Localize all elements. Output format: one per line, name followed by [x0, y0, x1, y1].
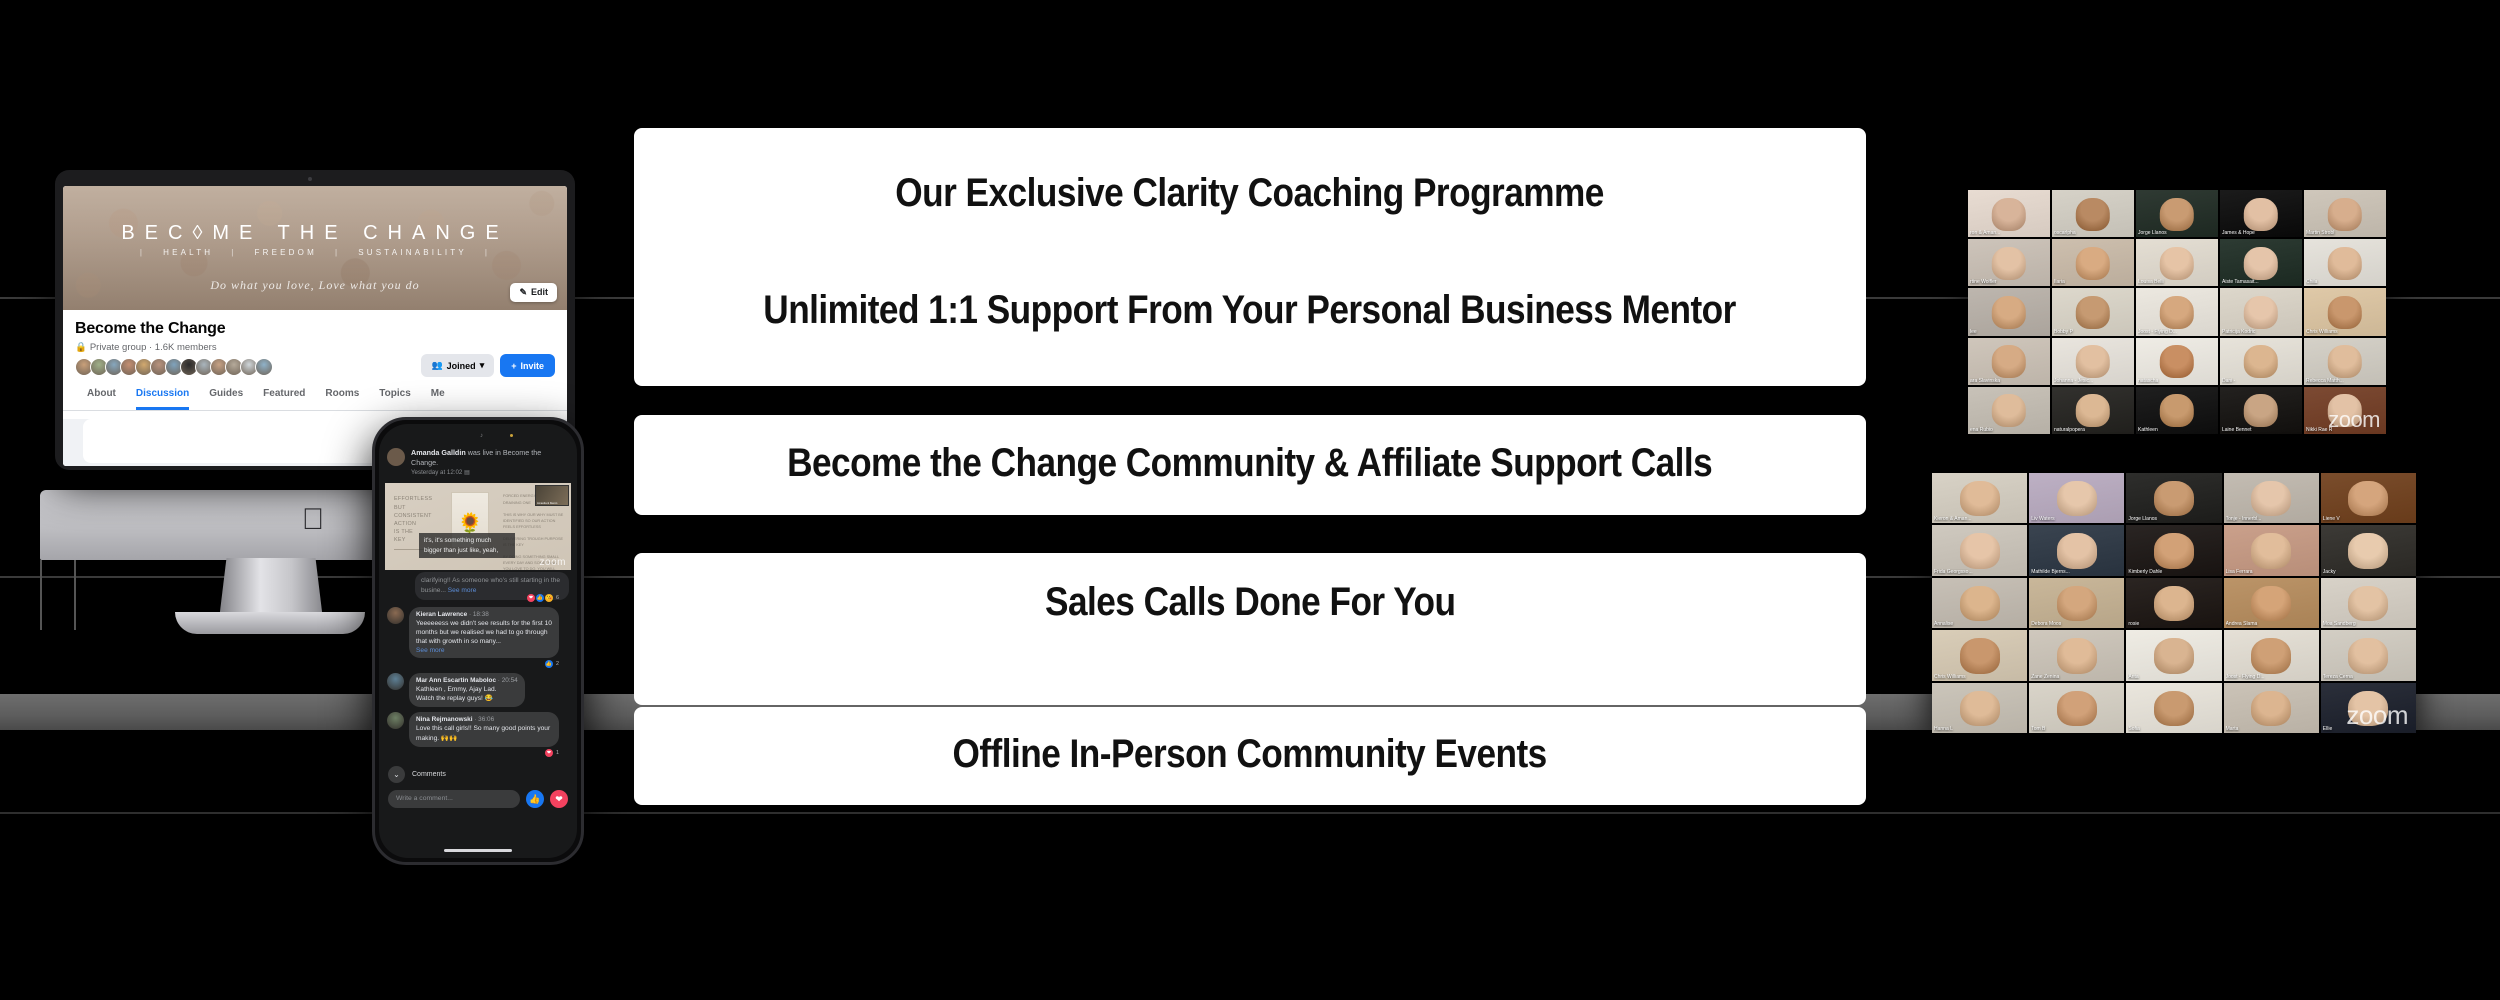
participant-avatar — [2160, 247, 2194, 280]
participant-avatar — [1960, 481, 2000, 516]
participant-avatar — [2076, 345, 2110, 378]
participant-name: Joost - Flying D... — [2138, 329, 2216, 335]
participant-name: natascha — [2138, 378, 2216, 384]
participant-name: Ellie — [2323, 726, 2414, 732]
participant-avatar — [2251, 533, 2291, 568]
zoom-participant-tile[interactable]: Rebecca Matth... — [2304, 338, 2386, 385]
poster-canvas:  BEC◊ME THE CHANGE |HEALTH|FREEDOM|SUST… — [0, 0, 2500, 1000]
participant-name: Johanna - Jesic... — [2054, 378, 2132, 384]
feature-panel-5[interactable]: Offline In-Person Community Events — [634, 707, 1866, 805]
post-author-avatar[interactable] — [387, 448, 405, 466]
participant-avatar — [2244, 198, 2278, 231]
love-reaction-icon: ❤ — [545, 749, 553, 757]
live-caption: it's, it's something much bigger than ju… — [419, 533, 515, 558]
comment-bubble: Nina Rejmanowski · 36:06Love this call g… — [409, 712, 559, 747]
participant-avatar — [2348, 533, 2388, 568]
participant-name: Liv Waters — [2031, 516, 2122, 522]
post-action: was live in — [466, 448, 503, 457]
participant-avatar — [2057, 533, 2097, 568]
cable-left — [40, 560, 42, 630]
cover-quote: Do what you love, Love what you do — [63, 278, 567, 293]
zoom-participant-tile[interactable]: Jacky — [2321, 525, 2416, 575]
zoom-participant-tile[interactable]: oscarlpha — [2052, 190, 2134, 237]
comment-author-avatar[interactable] — [387, 607, 404, 624]
apple-logo-icon:  — [300, 505, 326, 535]
group-tab-featured[interactable]: Featured — [263, 388, 305, 410]
comment-author-name[interactable]: Mar Ann Escartin Maboloc · 20:54 — [416, 677, 518, 684]
participant-avatar — [2348, 481, 2388, 516]
comment-list: Kieran Lawrence · 18:38Yeeeeeess we didn… — [379, 602, 577, 758]
post-privacy-icon: ▤ — [464, 469, 470, 476]
pencil-icon: ✎ — [519, 287, 527, 297]
participant-avatar — [2348, 586, 2388, 621]
edit-cover-label: Edit — [531, 287, 548, 297]
feature-panel-3-label: Become the Change Community & Affiliate … — [787, 443, 1712, 483]
zoom-participant-tile[interactable]: Jorge Llanos — [2136, 190, 2218, 237]
participant-avatar — [2244, 296, 2278, 329]
zoom-participant-tile[interactable]: ena Rubio — [1968, 387, 2050, 434]
participant-avatar — [2076, 296, 2110, 329]
comment-author-avatar[interactable] — [387, 712, 404, 729]
participant-avatar — [2251, 586, 2291, 621]
participant-name: James & Hope — [2222, 230, 2300, 236]
participant-name: Tonje - Innerbl... — [2226, 516, 2317, 522]
faded-comment: clarifying!! As someone who's still star… — [379, 570, 577, 601]
comment-author-name[interactable]: Kieran Lawrence · 18:38 — [416, 611, 552, 618]
participant-name: Lisa Ferrara — [2226, 569, 2317, 575]
post-header: Amanda Galldin was live in Become the Ch… — [379, 424, 577, 480]
participant-name: Moa Sandberg — [2323, 621, 2414, 627]
care-reaction-icon: 😘 — [545, 594, 553, 602]
comment-bubble: Kieran Lawrence · 18:38Yeeeeeess we didn… — [409, 607, 559, 658]
group-info: Become the Change 🔒Private group · 1.6K … — [63, 310, 567, 376]
comment-reaction-count: 1 — [556, 750, 559, 756]
participant-avatar — [2244, 247, 2278, 280]
iphone-device: ♪ Amanda Galldin was live in Become the … — [372, 417, 584, 865]
participant-avatar — [2244, 345, 2278, 378]
zoom-participant-tile[interactable]: Tereza Černa — [2321, 630, 2416, 680]
imac-base — [175, 612, 365, 634]
participant-avatar — [1960, 533, 2000, 568]
participant-name: ron & Aman... — [1970, 230, 2048, 236]
comment-timestamp: · 20:54 — [498, 677, 518, 684]
participant-name: Tereza Černa — [2323, 674, 2414, 680]
like-button[interactable]: 👍 — [526, 790, 544, 808]
love-button[interactable]: ❤ — [550, 790, 568, 808]
comment-body: Yeeeeeess we didn't see results for the … — [416, 619, 552, 647]
comment-composer: Write a comment... 👍 ❤ — [379, 783, 577, 808]
participant-name: Rebecca Matth... — [2306, 378, 2384, 384]
iphone-screen: ♪ Amanda Galldin was live in Become the … — [379, 424, 577, 858]
participant-avatar — [1960, 586, 2000, 621]
participant-name: Jacky — [2323, 569, 2414, 575]
participant-name: Chris Williams — [1934, 674, 2025, 680]
participant-name: Annalise — [1934, 621, 2025, 627]
participant-name: Sofia — [2128, 726, 2219, 732]
zoom-participant-tile[interactable]: Aiste Tamasait... — [2220, 239, 2302, 286]
zoom-participant-tile[interactable]: Zane Zenina — [2029, 630, 2124, 680]
participant-name: Kimberly Dahle — [2128, 569, 2219, 575]
feature-panel-4-label: Sales Calls Done For You — [1045, 582, 1456, 622]
faded-comment-see-more[interactable]: See more — [448, 587, 477, 594]
participant-avatar — [2328, 394, 2362, 427]
love-reaction-icon: ❤ — [527, 594, 535, 602]
like-reaction-icon: 👍 — [536, 594, 544, 602]
participant-name: Tom B — [2031, 726, 2122, 732]
participant-avatar — [2057, 691, 2097, 726]
group-privacy-meta: 🔒Private group · 1.6K members — [75, 342, 555, 353]
speaker-thumbnail-label: Amanda & Kieron — [537, 502, 557, 505]
group-tab-rooms[interactable]: Rooms — [325, 388, 359, 410]
zoom-participant-tile[interactable]: Martin Strobl — [2304, 190, 2386, 237]
participant-avatar — [1992, 345, 2026, 378]
participant-avatar — [2160, 198, 2194, 231]
zoom-participant-tile[interactable]: Liv Waters — [2029, 473, 2124, 523]
zoom-participant-tile[interactable]: lee — [1968, 288, 2050, 335]
participant-avatar — [2348, 638, 2388, 673]
zoom-participant-tile[interactable]: Patricija Kodric — [2220, 288, 2302, 335]
participant-avatar — [1992, 247, 2026, 280]
comment-reaction-badge[interactable]: ❤1 — [409, 749, 559, 757]
participant-name: Jorge Llanos — [2128, 516, 2219, 522]
zoom-participant-tile[interactable]: Chris Williams — [2304, 288, 2386, 335]
participant-avatar — [2154, 533, 2194, 568]
group-tabs[interactable]: AboutDiscussionGuidesFeaturedRoomsTopics… — [63, 376, 567, 411]
comment-timestamp: · 36:06 — [474, 716, 494, 723]
participant-name: Liene V — [2323, 516, 2414, 522]
participant-avatar — [2160, 394, 2194, 427]
lock-icon: 🔒 — [75, 342, 87, 353]
participant-avatar — [2154, 481, 2194, 516]
zoom-participant-tile[interactable]: Andrea Slama — [2224, 578, 2319, 628]
comment-item: Nina Rejmanowski · 36:06Love this call g… — [379, 707, 577, 757]
participant-avatar — [2251, 638, 2291, 673]
participant-avatar — [2076, 394, 2110, 427]
participant-avatar — [1992, 394, 2026, 427]
comment-reaction-badge[interactable]: 👍2 — [409, 660, 559, 668]
zoom-participant-tile[interactable]: ara Slavinska — [1968, 338, 2050, 385]
participant-avatar — [2154, 586, 2194, 621]
participant-name: ena Rubio — [1970, 427, 2048, 433]
cover-pillars: |HEALTH|FREEDOM|SUSTAINABILITY| — [63, 248, 567, 257]
participant-name: Ilaria — [2054, 279, 2132, 285]
participant-name: Zane Zenina — [2031, 674, 2122, 680]
participant-name: Laine Bennet — [2222, 427, 2300, 433]
participant-avatar — [2328, 345, 2362, 378]
participant-avatar — [2328, 247, 2362, 280]
zoom-call-grid-1[interactable]: ron & Aman...oscarlphaJorge LlanosJames … — [1968, 190, 2386, 434]
post-timestamp: Yesterday at 12:02 ▤ — [411, 469, 569, 476]
members-icon: 👥 — [431, 360, 442, 371]
zoom-participant-tile[interactable]: Laine Bennet — [2220, 387, 2302, 434]
comment-author-avatar[interactable] — [387, 673, 404, 690]
participant-name: Andrea Slama — [2226, 621, 2317, 627]
zoom-participant-tile[interactable]: Liene V — [2321, 473, 2416, 523]
edit-cover-button[interactable]: ✎Edit — [510, 283, 557, 302]
participant-avatar — [2244, 394, 2278, 427]
comment-timestamp: · 18:38 — [469, 611, 489, 618]
comment-reaction-count: 2 — [556, 661, 559, 667]
feature-panel-5-label: Offline In-Person Community Events — [953, 734, 1547, 774]
participant-name: Nikki Rae R — [2306, 427, 2384, 433]
group-action-buttons: 👥 Joined ▾ + Invite — [421, 354, 555, 377]
live-video-player[interactable]: EFFORTLESSBUTCONSISTENTACTIONIS THEKEY 🌻… — [385, 483, 571, 570]
post-timestamp-text: Yesterday at 12:02 — [411, 469, 462, 476]
invite-label: Invite — [520, 361, 544, 371]
zoom-participant-tile[interactable]: James & Hope — [2220, 190, 2302, 237]
zoom-participant-tile[interactable]: Tonje - Innerbl... — [2224, 473, 2319, 523]
participant-name: Chris Williams — [2306, 329, 2384, 335]
participant-name: ara Slavinska — [1970, 378, 2048, 384]
participant-name: Aiste Tamasait... — [2222, 279, 2300, 285]
group-tab-discussion[interactable]: Discussion — [136, 388, 189, 410]
group-tab-guides[interactable]: Guides — [209, 388, 243, 410]
zoom-participant-tile[interactable]: natascha — [2136, 338, 2218, 385]
group-privacy-label: Private group · 1.6K members — [90, 342, 217, 353]
participant-avatar — [1992, 296, 2026, 329]
participant-name: Joost - Flying D... — [2226, 674, 2317, 680]
zoom-participant-tile[interactable]: Jorge Llanos — [2126, 473, 2221, 523]
comment-author-name[interactable]: Nina Rejmanowski · 36:06 — [416, 716, 552, 723]
zoom-participant-tile[interactable]: Ellie — [2321, 683, 2416, 733]
group-tab-about[interactable]: About — [87, 388, 116, 410]
feature-panel-2[interactable]: Unlimited 1:1 Support From Your Personal… — [634, 290, 1866, 386]
zoom-participant-tile[interactable]: Dani - — [2220, 338, 2302, 385]
like-reaction-icon: 👍 — [545, 660, 553, 668]
zoom-participant-tile[interactable]: Kathleen — [2136, 387, 2218, 434]
participant-avatar — [2076, 198, 2110, 231]
zoom-participant-tile[interactable]: Frida Georgsso... — [1932, 525, 2027, 575]
participant-name: Chila — [2306, 279, 2384, 285]
zoom-participant-tile[interactable]: Joost - Flying D... — [2136, 288, 2218, 335]
participant-avatar — [2076, 247, 2110, 280]
zoom-participant-tile[interactable]: Tom B — [2029, 683, 2124, 733]
participant-name: Jorge Llanos — [2138, 230, 2216, 236]
comment-see-more[interactable]: See more — [416, 647, 552, 654]
zoom-participant-tile[interactable]: Louisa Belli — [2136, 239, 2218, 286]
participant-name: Hanna L — [1934, 726, 2025, 732]
comments-label: Comments — [412, 771, 446, 778]
participant-name: Louisa Belli — [2138, 279, 2216, 285]
participant-name: Debora Moos — [2031, 621, 2122, 627]
participant-name: oscarlpha — [2054, 230, 2132, 236]
group-tab-me[interactable]: Me — [431, 388, 445, 410]
comment-item: Kieran Lawrence · 18:38Yeeeeeess we didn… — [379, 602, 577, 668]
participant-avatar — [2251, 691, 2291, 726]
zoom-participant-tile[interactable]: Marta — [2224, 683, 2319, 733]
zoom-participant-tile[interactable]: Joost - Flying D... — [2224, 630, 2319, 680]
zoom-participant-tile[interactable]: Mathilde Bjerns... — [2029, 525, 2124, 575]
participant-avatar — [2154, 691, 2194, 726]
zoom-participant-tile[interactable]: rtine Wolfler — [1968, 239, 2050, 286]
plus-icon: + — [511, 361, 516, 371]
zoom-participant-tile[interactable]: Moa Sandberg — [2321, 578, 2416, 628]
participant-name: rosie — [2128, 621, 2219, 627]
participant-name: naturalpopera — [2054, 427, 2132, 433]
comment-bubble: Mar Ann Escartin Maboloc · 20:54Kathleen… — [409, 673, 525, 708]
zoom-participant-tile[interactable]: Lisa Ferrara — [2224, 525, 2319, 575]
home-indicator — [444, 849, 512, 853]
comment-body: Love this call girls!! So many good poin… — [416, 724, 552, 743]
participant-avatar — [2154, 638, 2194, 673]
comment-input[interactable]: Write a comment... — [388, 790, 520, 808]
zoom-participant-tile[interactable]: Nikki Rae R — [2304, 387, 2386, 434]
chevron-down-icon: ⌄ — [388, 766, 405, 783]
participant-avatar — [2328, 296, 2362, 329]
speaker-thumbnail: Amanda & Kieron — [535, 485, 569, 506]
cover-title: BEC◊ME THE CHANGE — [63, 222, 567, 245]
zoom-participant-tile[interactable]: Arita — [2126, 630, 2221, 680]
member-avatar[interactable] — [255, 358, 273, 376]
feature-panel-1-label: Our Exclusive Clarity Coaching Programme — [896, 173, 1605, 213]
faded-comment-reaction-count: 6 — [556, 595, 559, 601]
participant-name: Dani - — [2222, 378, 2300, 384]
zoom-participant-tile[interactable]: Debora Moos — [2029, 578, 2124, 628]
participant-name: Kieron & Aman... — [1934, 516, 2025, 522]
participant-avatar — [2057, 481, 2097, 516]
participant-name: Martin Strobl — [2306, 230, 2384, 236]
participant-avatar — [2160, 296, 2194, 329]
zoom-participant-tile[interactable]: Chris Williams — [1932, 630, 2027, 680]
participant-name: Arita — [2128, 674, 2219, 680]
zoom-call-grid-2[interactable]: Kieron & Aman...Liv WatersJorge LlanosTo… — [1932, 473, 2416, 733]
zoom-participant-tile[interactable]: Kieron & Aman... — [1932, 473, 2027, 523]
faded-comment-text: clarifying!! As someone who's still star… — [421, 577, 560, 594]
zoom-participant-tile[interactable]: rosie — [2126, 578, 2221, 628]
participant-avatar — [2348, 691, 2388, 726]
participant-avatar — [1960, 691, 2000, 726]
participant-name: lee — [1970, 329, 2048, 335]
comment-body: Kathleen , Emmy, Ajay Lad.Watch the repl… — [416, 685, 518, 704]
zoom-watermark-icon: zoom — [540, 557, 566, 568]
participant-avatar — [2160, 345, 2194, 378]
zoom-participant-tile[interactable]: Sofia — [2126, 683, 2221, 733]
participant-name: Kathleen — [2138, 427, 2216, 433]
zoom-participant-tile[interactable]: Hanna L — [1932, 683, 2027, 733]
participant-avatar — [2057, 638, 2097, 673]
participant-name: Frida Georgsso... — [1934, 569, 2025, 575]
comment-item: Mar Ann Escartin Maboloc · 20:54Kathleen… — [379, 668, 577, 708]
chevron-down-icon: ▾ — [480, 360, 485, 371]
post-byline: Amanda Galldin was live in Become the Ch… — [411, 448, 569, 467]
zoom-participant-tile[interactable]: ron & Aman... — [1968, 190, 2050, 237]
feature-panel-2-label: Unlimited 1:1 Support From Your Personal… — [764, 290, 1736, 330]
participant-avatar — [2251, 481, 2291, 516]
comments-toggle-row[interactable]: ⌄ Comments — [379, 757, 577, 783]
status-recording-dot — [510, 434, 513, 437]
group-cover-photo: BEC◊ME THE CHANGE |HEALTH|FREEDOM|SUSTAI… — [63, 186, 567, 310]
zoom-participant-tile[interactable]: Bobby P — [2052, 288, 2134, 335]
participant-name: Marta — [2226, 726, 2317, 732]
participant-name: Bobby P — [2054, 329, 2132, 335]
participant-avatar — [1992, 198, 2026, 231]
zoom-participant-tile[interactable]: naturalpopera — [2052, 387, 2134, 434]
post-author-name[interactable]: Amanda Galldin — [411, 448, 466, 457]
group-name: Become the Change — [75, 320, 555, 338]
joined-label: Joined — [447, 361, 476, 371]
participant-avatar — [1960, 638, 2000, 673]
zoom-participant-tile[interactable]: Ilaria — [2052, 239, 2134, 286]
status-music-icon: ♪ — [480, 433, 483, 439]
zoom-participant-tile[interactable]: Kimberly Dahle — [2126, 525, 2221, 575]
joined-button[interactable]: 👥 Joined ▾ — [421, 354, 494, 377]
feature-panel-4[interactable]: Sales Calls Done For You — [634, 553, 1866, 705]
feature-panel-3[interactable]: Become the Change Community & Affiliate … — [634, 415, 1866, 515]
zoom-participant-tile[interactable]: Annalise — [1932, 578, 2027, 628]
invite-button[interactable]: + Invite — [500, 354, 555, 377]
cable-right — [74, 560, 76, 630]
webcam-icon — [308, 177, 312, 181]
participant-name: Patricija Kodric — [2222, 329, 2300, 335]
participant-avatar — [2057, 586, 2097, 621]
participant-name: Mathilde Bjerns... — [2031, 569, 2122, 575]
zoom-participant-tile[interactable]: Johanna - Jesic... — [2052, 338, 2134, 385]
participant-avatar — [2328, 198, 2362, 231]
zoom-participant-tile[interactable]: Chila — [2304, 239, 2386, 286]
group-tab-topics[interactable]: Topics — [379, 388, 410, 410]
participant-name: rtine Wolfler — [1970, 279, 2048, 285]
